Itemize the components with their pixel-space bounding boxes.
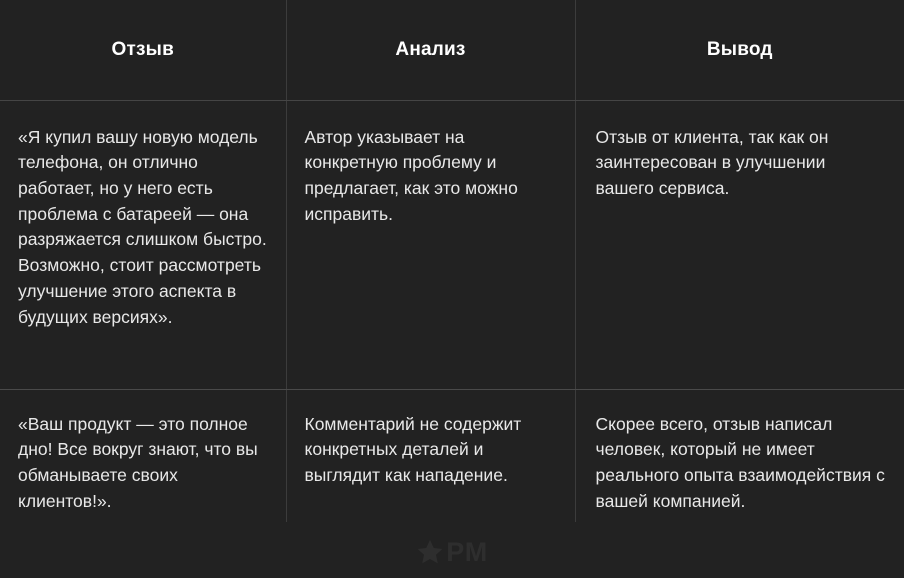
- analysis-text: Комментарий не содержит конкретных детал…: [305, 412, 559, 489]
- table-body: «Я купил вашу новую модель телефона, он …: [0, 100, 904, 522]
- cell-verdict: Скорее всего, отзыв написал человек, кот…: [575, 389, 904, 522]
- column-header-analysis: Анализ: [286, 0, 575, 100]
- cell-review: «Я купил вашу новую модель телефона, он …: [0, 100, 286, 389]
- cell-analysis: Комментарий не содержит конкретных детал…: [286, 389, 575, 522]
- watermark: PM: [0, 538, 904, 566]
- review-text: «Ваш продукт — это полное дно! Все вокру…: [18, 412, 272, 515]
- comparison-table-container: Отзыв Анализ Вывод «Я купил вашу новую м…: [0, 0, 904, 578]
- watermark-label: PM: [446, 538, 488, 566]
- cell-verdict: Отзыв от клиента, так как он заинтересов…: [575, 100, 904, 389]
- table-row: «Я купил вашу новую модель телефона, он …: [0, 100, 904, 389]
- cell-review: «Ваш продукт — это полное дно! Все вокру…: [0, 389, 286, 522]
- table-header: Отзыв Анализ Вывод: [0, 0, 904, 100]
- verdict-text: Отзыв от клиента, так как он заинтересов…: [596, 125, 887, 202]
- cell-analysis: Автор указывает на конкретную проблему и…: [286, 100, 575, 389]
- star-icon: [416, 538, 444, 566]
- review-text: «Я купил вашу новую модель телефона, он …: [18, 125, 272, 331]
- verdict-text: Скорее всего, отзыв написал человек, кот…: [596, 412, 887, 515]
- table-header-row: Отзыв Анализ Вывод: [0, 0, 904, 100]
- column-header-verdict: Вывод: [575, 0, 904, 100]
- table-row: «Ваш продукт — это полное дно! Все вокру…: [0, 389, 904, 522]
- feedback-comparison-table: Отзыв Анализ Вывод «Я купил вашу новую м…: [0, 0, 904, 522]
- analysis-text: Автор указывает на конкретную проблему и…: [305, 125, 559, 228]
- column-header-review: Отзыв: [0, 0, 286, 100]
